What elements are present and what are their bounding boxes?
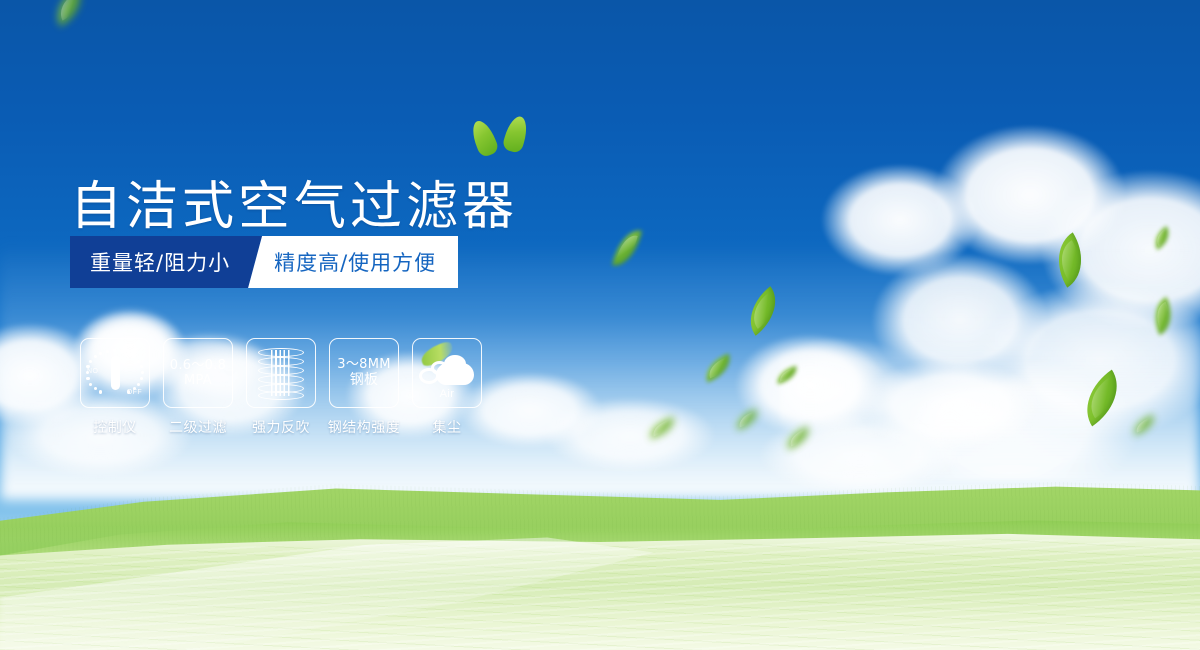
pressure-icon: 0.6～0.8 MPA <box>163 338 233 408</box>
gauge-off-label: OFF <box>127 389 142 396</box>
feature-item[interactable]: Air 集尘 <box>412 338 482 437</box>
coil-shape <box>258 347 304 399</box>
feature-item[interactable]: 0.6～0.8 MPA 二级过滤 <box>163 338 233 437</box>
feature-item[interactable]: 强力反吹 <box>246 338 316 437</box>
feature-label: 集尘 <box>433 417 462 437</box>
slogan-left: 重量轻/阻力小 <box>70 236 262 288</box>
slogan-right: 精度高/使用方便 <box>248 236 458 288</box>
pressure-value: 0.6～0.8 <box>170 358 226 373</box>
air-cloud-icon: Air <box>412 338 482 408</box>
pressure-unit: MPA <box>184 373 212 388</box>
gauge-no-label: NO <box>87 368 98 375</box>
feature-label: 控制仪 <box>93 417 137 437</box>
product-banner: 自洁式空气过滤器 重量轻/阻力小 精度高/使用方便 <box>0 0 1200 650</box>
banner-content: 自洁式空气过滤器 重量轻/阻力小 精度高/使用方便 <box>0 0 1200 650</box>
steel-material: 钢板 <box>350 372 379 389</box>
gauge-icon: NO OFF <box>80 338 150 408</box>
feature-icon-row: NO OFF 控制仪 0.6～0.8 MPA 二级过滤 <box>80 338 482 437</box>
air-label: Air <box>418 388 476 400</box>
gauge-needle <box>111 356 120 390</box>
gauge-dial: NO OFF <box>87 347 143 399</box>
steel-thickness: 3～8MM <box>337 357 390 372</box>
feature-label: 钢结构强度 <box>328 417 401 437</box>
feature-item[interactable]: 3～8MM 钢板 钢结构强度 <box>329 338 399 437</box>
feature-item[interactable]: NO OFF 控制仪 <box>80 338 150 437</box>
feature-label: 二级过滤 <box>169 417 227 437</box>
feature-label: 强力反吹 <box>252 417 310 437</box>
air-cloud-shape: Air <box>418 349 476 397</box>
page-title: 自洁式空气过滤器 <box>70 181 518 233</box>
steel-plate-icon: 3～8MM 钢板 <box>329 338 399 408</box>
slogan-badge: 重量轻/阻力小 精度高/使用方便 <box>70 236 458 288</box>
title-leaves-icon <box>470 112 540 158</box>
coil-icon <box>246 338 316 408</box>
